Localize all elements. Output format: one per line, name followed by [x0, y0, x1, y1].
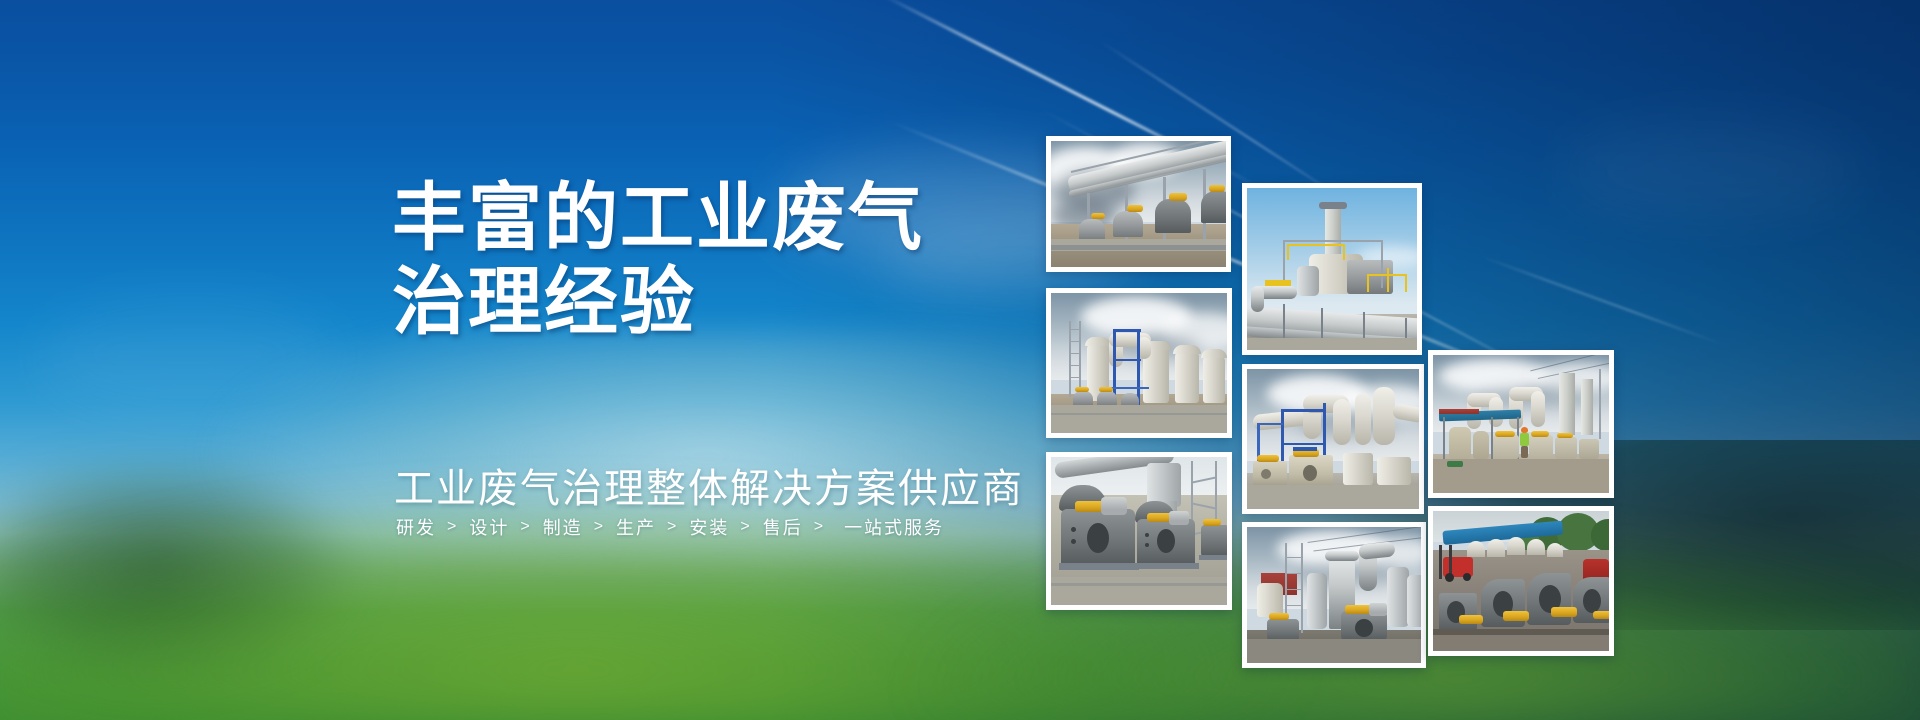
- photo-3-scene: [1051, 293, 1227, 433]
- headline-line-1: 丰富的工业废气: [392, 176, 924, 260]
- photo-6-scene: [1247, 527, 1421, 663]
- collage-photo-3[interactable]: [1046, 288, 1232, 438]
- breadcrumb-step-production[interactable]: 生产: [616, 514, 656, 540]
- breadcrumb-step-design[interactable]: 设计: [469, 514, 509, 540]
- subtitle: 工业废气治理整体解决方案供应商: [394, 456, 1024, 514]
- breadcrumb-step-aftersales[interactable]: 售后: [763, 514, 803, 540]
- breadcrumb-step-installation[interactable]: 安装: [689, 514, 729, 540]
- collage-photo-6[interactable]: [1242, 522, 1426, 668]
- collage-photo-2[interactable]: [1242, 183, 1422, 355]
- photo-4-scene: [1247, 369, 1419, 509]
- headline-line-2: 治理经验: [392, 260, 924, 344]
- breadcrumb-separator-icon: >: [583, 518, 616, 536]
- breadcrumb-separator-icon: >: [436, 518, 469, 536]
- breadcrumb-step-research[interactable]: 研发: [396, 514, 436, 540]
- breadcrumb-separator-icon: >: [656, 518, 689, 536]
- collage-photo-1[interactable]: [1046, 136, 1231, 272]
- worker-vest-icon: [1520, 433, 1529, 446]
- collage-photo-5[interactable]: [1046, 452, 1232, 610]
- photo-5-scene: [1051, 457, 1227, 605]
- collage-photo-4[interactable]: [1242, 364, 1424, 514]
- breadcrumb-step-onestop[interactable]: 一站式服务: [844, 514, 944, 540]
- breadcrumb-step-manufacture[interactable]: 制造: [543, 514, 583, 540]
- collage-photo-8[interactable]: [1428, 506, 1614, 656]
- banner-stage: 丰富的工业废气 治理经验 工业废气治理整体解决方案供应商 研发 > 设计 > 制…: [0, 0, 1920, 720]
- breadcrumb-separator-icon: >: [509, 518, 542, 536]
- photo-8-scene: [1433, 511, 1609, 651]
- breadcrumb: 研发 > 设计 > 制造 > 生产 > 安装 > 售后 > 一站式服务: [396, 514, 944, 540]
- photo-7-scene: [1433, 355, 1609, 493]
- collage-photo-7[interactable]: [1428, 350, 1614, 498]
- photo-1-scene: [1051, 141, 1226, 267]
- page-title: 丰富的工业废气 治理经验: [392, 176, 924, 343]
- cloud-icon: [40, 300, 340, 410]
- photo-2-scene: [1247, 188, 1417, 350]
- breadcrumb-separator-icon: >: [803, 518, 836, 536]
- cloud-icon: [1560, 120, 1860, 220]
- breadcrumb-separator-icon: >: [729, 518, 762, 536]
